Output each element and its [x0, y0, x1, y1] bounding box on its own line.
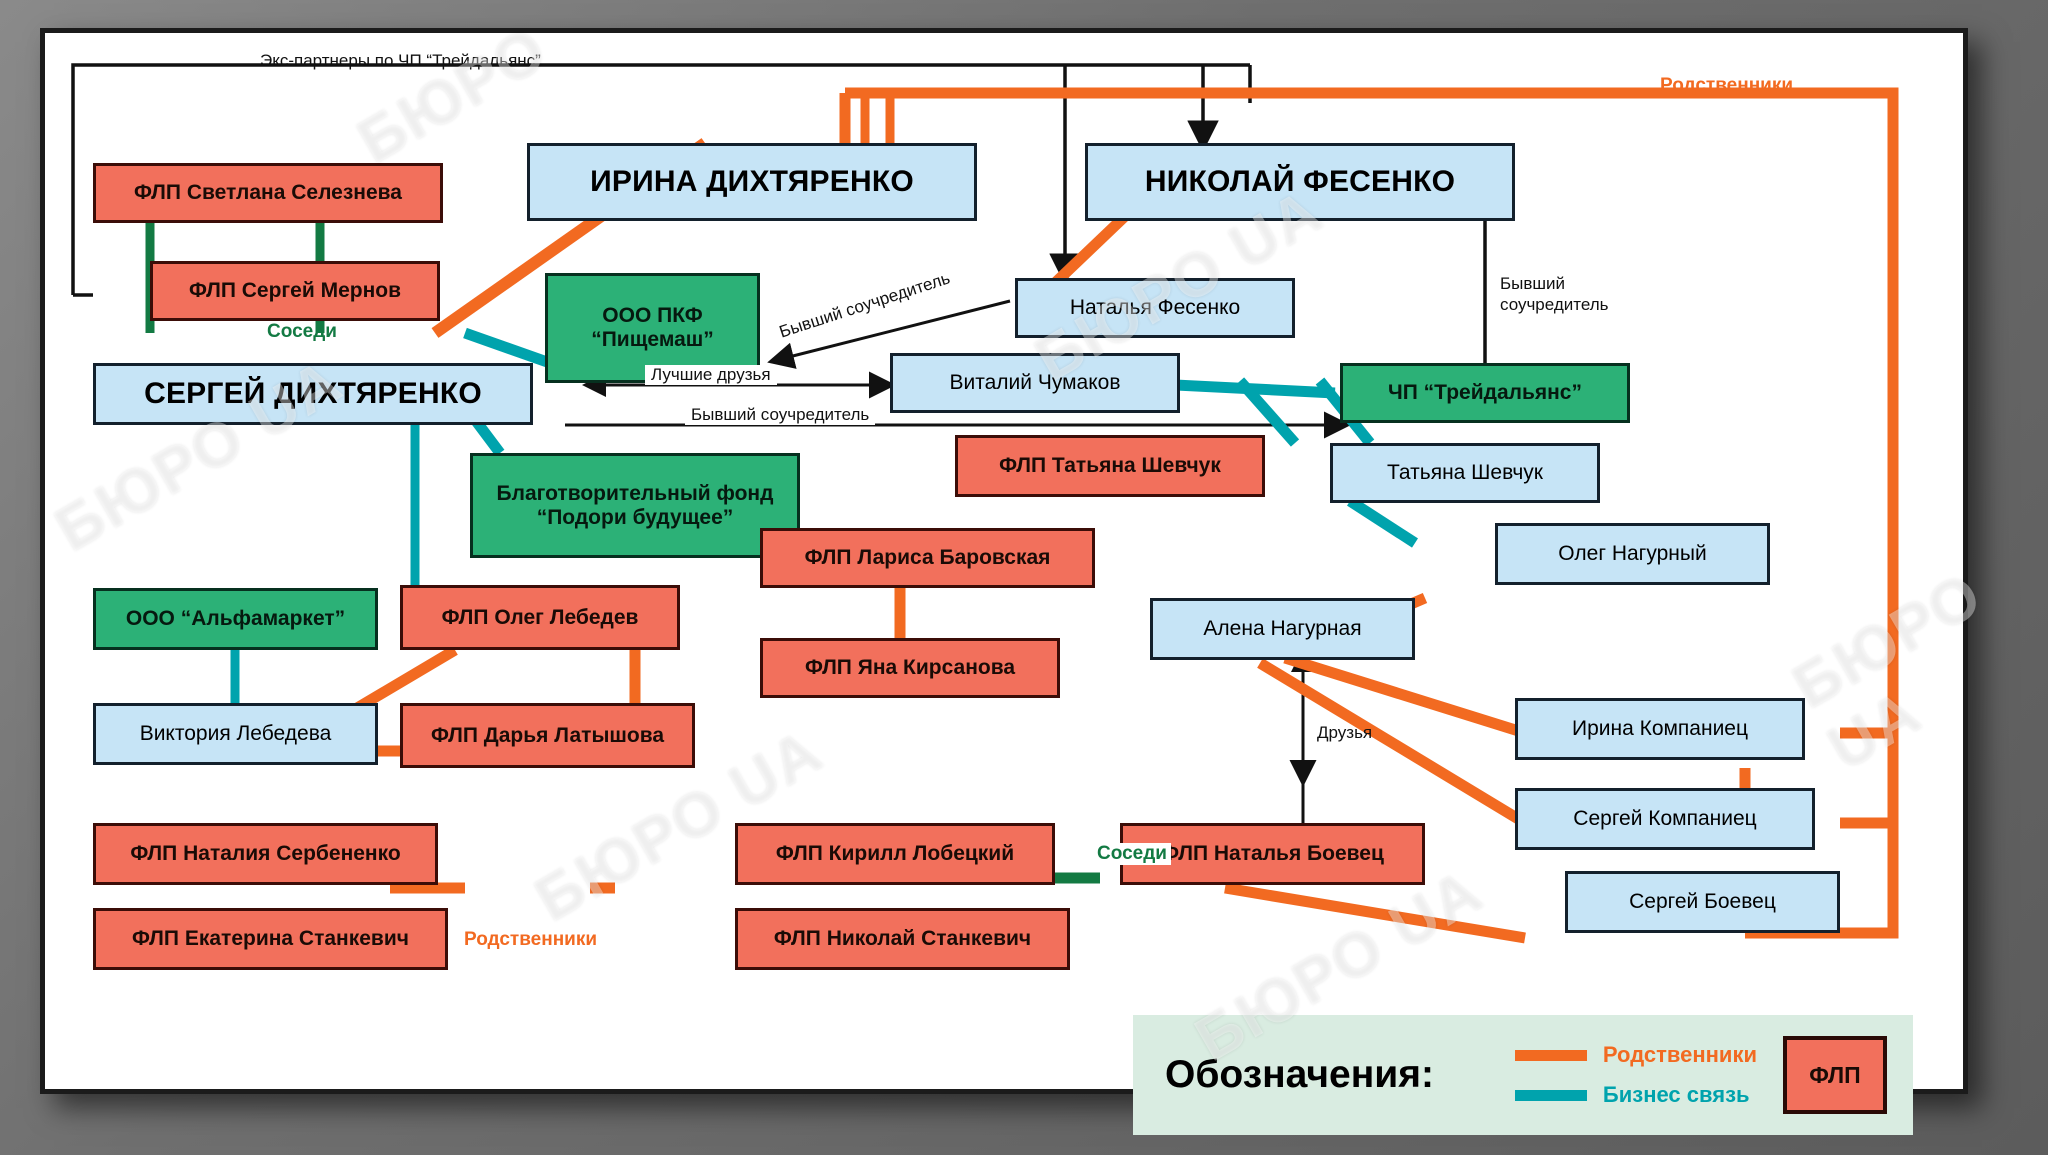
node-flp-kirsanova[interactable]: ФЛП Яна Кирсанова	[760, 638, 1060, 698]
edge-label-former-cofounder-3: Бывший соучредитель	[1500, 273, 1609, 316]
edge-label-neighbors-bottom: Соседи	[1093, 843, 1171, 865]
node-flp-mernov[interactable]: ФЛП Сергей Мернов	[150, 261, 440, 321]
node-vitaliy-chumakov[interactable]: Виталий Чумаков	[890, 353, 1180, 413]
node-flp-oleg-lebedev[interactable]: ФЛП Олег Лебедев	[400, 585, 680, 650]
edge-label-relatives-bottom: Родственники	[460, 929, 601, 951]
line-sergey-pkf	[465, 333, 550, 363]
legend-rows: Родственники Бизнес связь	[1515, 1042, 1757, 1108]
legend-label-business: Бизнес связь	[1603, 1082, 1750, 1108]
node-sergey-dikhtyarenko[interactable]: СЕРГЕЙ ДИХТЯРЕНКО	[93, 363, 533, 425]
edge-label-ex-partners: Экс-партнеры по ЧП “Трейдальянс”	[260, 51, 541, 71]
node-sergey-kompaniec[interactable]: Сергей Компаниец	[1515, 788, 1815, 850]
legend-swatch-relatives	[1515, 1050, 1587, 1061]
legend-box: Обозначения: Родственники Бизнес связь Ф…	[1133, 1015, 1913, 1135]
node-fond-podori-budushchee[interactable]: Благотворительный фонд “Подори будущее”	[470, 453, 800, 558]
node-oleg-nagurny[interactable]: Олег Нагурный	[1495, 523, 1770, 585]
legend-title: Обозначения:	[1165, 1053, 1434, 1097]
legend-label-relatives: Родственники	[1603, 1042, 1757, 1068]
node-flp-tatyana-shevchuk[interactable]: ФЛП Татьяна Шевчук	[955, 435, 1265, 497]
node-irina-kompaniec[interactable]: Ирина Компаниец	[1515, 698, 1805, 760]
legend-row-business: Бизнес связь	[1515, 1082, 1757, 1108]
diagram-canvas: ФЛП Светлана Селезнева ФЛП Сергей Мернов…	[40, 28, 1968, 1094]
edge-label-friends: Друзья	[1317, 723, 1372, 743]
node-flp-nikolay-stankevich[interactable]: ФЛП Николай Станкевич	[735, 908, 1070, 970]
node-flp-serbenenko[interactable]: ФЛП Наталия Сербененко	[93, 823, 438, 885]
node-flp-barovskaya[interactable]: ФЛП Лариса Баровская	[760, 528, 1095, 588]
node-viktoriya-lebedeva[interactable]: Виктория Лебедева	[93, 703, 378, 765]
node-flp-kirill-lobeckiy[interactable]: ФЛП Кирилл Лобецкий	[735, 823, 1055, 885]
node-alena-nagurnaya[interactable]: Алена Нагурная	[1150, 598, 1415, 660]
node-ooo-alfamarket[interactable]: ООО “Альфамаркет”	[93, 588, 378, 650]
legend-swatch-business	[1515, 1090, 1587, 1101]
edge-label-best-friends: Лучшие друзья	[645, 365, 777, 385]
edge-label-relatives-top: Родственники	[1660, 75, 1793, 97]
edge-label-former-cofounder-2: Бывший соучредитель	[685, 405, 875, 425]
line-boevec-sergeyb	[1225, 888, 1525, 938]
node-chp-treidalyans[interactable]: ЧП “Трейдальянс”	[1340, 363, 1630, 423]
node-flp-selezneva[interactable]: ФЛП Светлана Селезнева	[93, 163, 443, 223]
node-natalya-fesenko[interactable]: Наталья Фесенко	[1015, 278, 1295, 338]
node-flp-darya-latyshova[interactable]: ФЛП Дарья Латышова	[400, 703, 695, 768]
line-shevchuk-nagurny	[1350, 501, 1415, 543]
node-irina-dikhtyarenko[interactable]: ИРИНА ДИХТЯРЕНКО	[527, 143, 977, 221]
legend-chip-flp: ФЛП	[1783, 1036, 1887, 1114]
screenshot-stage: ФЛП Светлана Селезнева ФЛП Сергей Мернов…	[0, 0, 2048, 1155]
legend-row-relatives: Родственники	[1515, 1042, 1757, 1068]
node-nikolay-fesenko[interactable]: НИКОЛАЙ ФЕСЕНКО	[1085, 143, 1515, 221]
node-tatyana-shevchuk[interactable]: Татьяна Шевчук	[1330, 443, 1600, 503]
node-flp-ekaterina-stankevich[interactable]: ФЛП Екатерина Станкевич	[93, 908, 448, 970]
node-sergey-boevec[interactable]: Сергей Боевец	[1565, 871, 1840, 933]
edge-label-neighbors-left: Соседи	[267, 321, 337, 343]
